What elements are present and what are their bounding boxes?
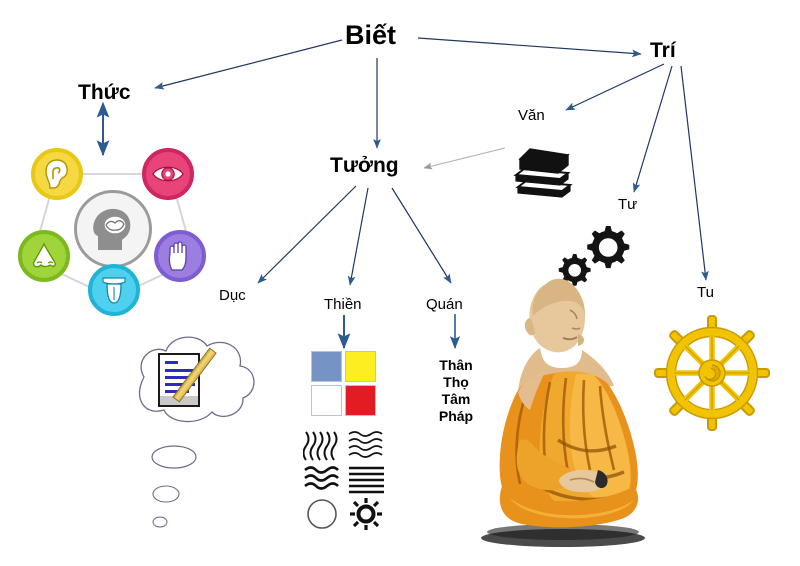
five-senses-diagram: [18, 142, 208, 317]
node-tuong[interactable]: Tưởng: [330, 155, 399, 176]
blue-square: [311, 351, 342, 382]
brain-head-icon: [74, 190, 152, 268]
node-tri[interactable]: Trí: [650, 40, 676, 61]
node-duc[interactable]: Dục: [219, 288, 246, 303]
stack-of-books-icon: [512, 143, 576, 199]
node-van[interactable]: Văn: [518, 108, 545, 123]
edge-tuong-thien: [350, 188, 368, 285]
red-square: [345, 385, 376, 416]
thought-cloud-icon: [104, 322, 274, 537]
edge-books-tuong: [424, 148, 505, 168]
edge-tri-tu-practice: [681, 66, 706, 280]
edge-tuong-quan: [392, 188, 451, 283]
straight-lines-icon: [349, 468, 384, 492]
yellow-square: [345, 351, 376, 382]
nose-icon: [18, 230, 70, 282]
vertical-waves-icon: [304, 432, 337, 460]
edge-biet-thuc: [155, 40, 342, 88]
kasina-color-grid: [311, 351, 377, 417]
eye-icon: [142, 148, 194, 200]
node-tu-practice[interactable]: Tu: [697, 285, 714, 300]
diagram-canvas: Biết Thức Tưởng Trí Văn Tư Tu Dục Thiền …: [0, 0, 800, 566]
element-symbols-grid: [303, 430, 387, 530]
node-thien[interactable]: Thiền: [324, 297, 362, 312]
edge-tri-van: [566, 64, 664, 110]
node-tu-think[interactable]: Tư: [618, 197, 637, 212]
dharma-wheel-icon: [654, 315, 770, 431]
edge-biet-tri: [418, 38, 641, 54]
ear-icon: [31, 148, 83, 200]
thick-waves-icon: [305, 468, 338, 489]
node-biet[interactable]: Biết: [345, 22, 396, 49]
hand-icon: [154, 230, 206, 282]
sun-light-icon: [350, 498, 382, 530]
tongue-icon: [88, 264, 140, 316]
circle-icon: [308, 500, 336, 528]
edge-tuong-duc: [258, 186, 356, 283]
node-thuc[interactable]: Thức: [78, 82, 131, 103]
wavy-lines-icon: [349, 432, 382, 457]
white-square: [311, 385, 342, 416]
edge-tri-tu-think: [634, 66, 672, 192]
meditating-monk-image: [458, 270, 663, 552]
